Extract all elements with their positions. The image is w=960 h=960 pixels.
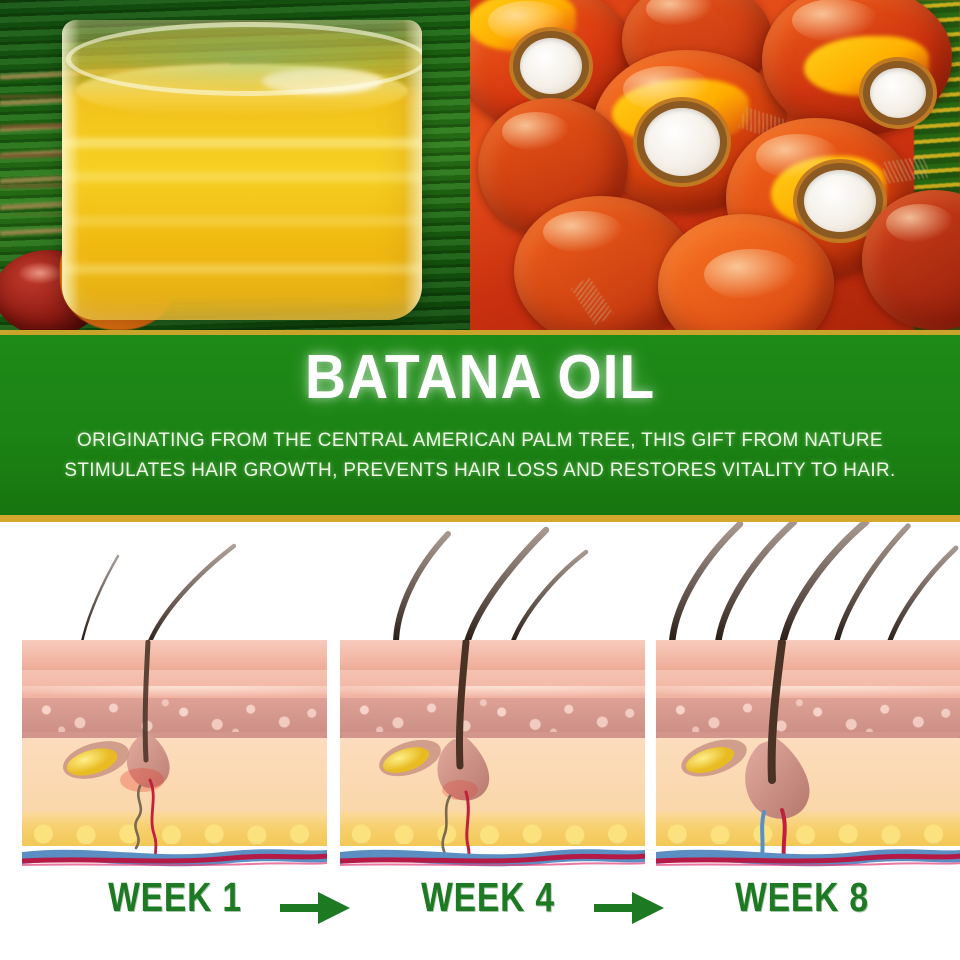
hero-photo (0, 0, 960, 330)
description-line-2: STIMULATES HAIR GROWTH, PREVENTS HAIR LO… (38, 455, 923, 485)
bowl-rim (66, 22, 422, 96)
follicle-detail-week-4 (340, 640, 645, 868)
arrow-right-icon-1 (278, 888, 352, 928)
skin-cross-section (340, 640, 645, 868)
follicle-detail-week-8 (656, 640, 960, 868)
palm-fruits (470, 0, 960, 330)
week-label-2: WEEK 4 (398, 874, 578, 921)
palm-kernel (644, 108, 720, 176)
week-label-1: WEEK 1 (85, 874, 265, 921)
palm-kernel (870, 68, 926, 118)
palm-kernel (804, 170, 876, 232)
blood-vessels (656, 838, 960, 868)
timeline-labels: WEEK 1 WEEK 4 WEEK 8 (0, 874, 960, 944)
oil-bowl (62, 20, 422, 320)
timeline-panel-week-4 (340, 640, 645, 868)
timeline-panel-week-1 (22, 640, 327, 868)
blood-vessels (340, 838, 645, 868)
palm-kernel (520, 38, 582, 94)
blood-vessels (22, 838, 327, 868)
week-label-3: WEEK 8 (712, 874, 892, 921)
description-line-1: ORIGINATING FROM THE CENTRAL AMERICAN PA… (38, 425, 923, 455)
timeline-panel-week-8 (656, 640, 960, 868)
skin-cross-section (22, 640, 327, 868)
page-title: BATANA OIL (38, 335, 921, 409)
product-description: ORIGINATING FROM THE CENTRAL AMERICAN PA… (0, 409, 960, 485)
skin-cross-section (656, 640, 960, 868)
product-infographic: BATANA OIL ORIGINATING FROM THE CENTRAL … (0, 0, 960, 960)
hair-growth-timeline: WEEK 1 WEEK 4 WEEK 8 (0, 522, 960, 960)
product-banner: BATANA OIL ORIGINATING FROM THE CENTRAL … (0, 330, 960, 522)
arrow-right-icon-2 (592, 888, 666, 928)
follicle-detail-week-1 (22, 640, 327, 868)
